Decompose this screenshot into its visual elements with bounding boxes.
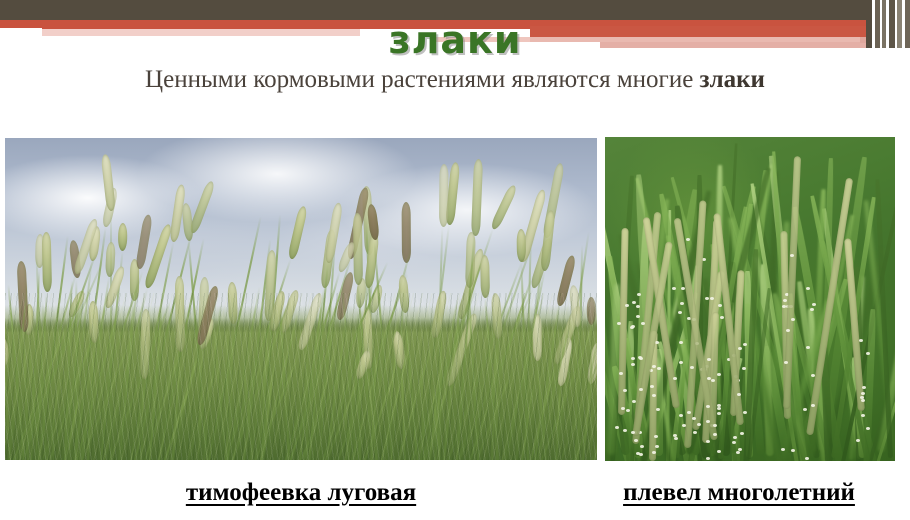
ryegrass-floret [811,404,815,407]
ryegrass-floret [784,361,788,364]
ryegrass-floret [717,450,721,453]
ryegrass-floret [706,457,710,460]
ryegrass-floret [693,431,697,434]
ryegrass-floret [713,433,717,436]
ryegrass-floret [638,356,642,359]
ryegrass-floret [791,318,795,321]
ryegrass-floret [737,393,741,396]
ryegrass-floret [743,343,747,346]
ryegrass-floret [639,388,643,391]
ryegrass-floret [866,352,870,355]
ryegrass-floret [686,238,690,241]
caption-perennial-ryegrass: плевел многолетний [568,478,910,508]
ryegrass-blades-layer [605,137,895,461]
ryegrass-floret [806,287,810,290]
ryegrass-floret [617,322,621,325]
ryegrass-floret [631,357,635,360]
timothy-spike [135,214,153,269]
ryegrass-floret [678,311,682,314]
ryegrass-floret [636,305,640,308]
ryegrass-floret [806,346,810,349]
ryegrass-floret [733,436,737,439]
ryegrass-floret [679,361,683,364]
ryegrass-floret [615,426,619,429]
ryegrass-floret [711,379,715,382]
ryegrass-floret [811,374,815,377]
subtitle-text: Ценными кормовыми растениями являются мн… [0,64,910,96]
ryegrass-floret [740,432,744,435]
timothy-spike [540,210,556,272]
ryegrass-floret [866,427,870,430]
ryegrass-floret [679,341,683,344]
timothy-spike [490,183,519,230]
ryegrass-floret [862,386,866,389]
ryegrass-floret [655,341,659,344]
ryegrass-floret [707,358,711,361]
timothy-spike [42,232,52,292]
ryegrass-floret [674,437,678,440]
ryegrass-floret [861,392,865,395]
ryegrass-floret [786,329,790,332]
ryegrass-floret [812,303,816,306]
ryegrass-floret [650,385,654,388]
ryegrass-floret [717,412,721,415]
ryegrass-floret [652,451,656,454]
ryegrass-floret [743,411,747,414]
ryegrass-floret [626,409,630,412]
ryegrass-floret [681,287,685,290]
presentation-slide: злаки Ценными кормовыми растениями являю… [0,0,910,520]
subtitle-highlight: злаки [700,66,765,93]
ryegrass-floret [791,449,795,452]
ryegrass-floret [738,347,742,350]
ryegrass-floret [713,424,717,427]
ryegrass-floret [790,254,794,257]
ryegrass-floret [639,453,643,456]
ryegrass-floret [631,431,635,434]
ryegrass-floret [632,400,636,403]
timothy-spike [101,154,116,212]
timothy-grass-field-photo [5,138,597,460]
ryegrass-floret [637,293,641,296]
timothy-spike [353,213,363,285]
ryegrass-floret [623,389,627,392]
ryegrass-floret [783,299,787,302]
ryegrass-floret [652,394,656,397]
ryegrass-floret [690,366,694,369]
ryegrass-floret [654,435,658,438]
ryegrass-floret [625,304,629,307]
ryegrass-floret [641,322,645,325]
timothy-spike [287,205,308,260]
ryegrass-floret [672,287,676,290]
ryegrass-floret [630,326,634,329]
ryegrass-floret [657,367,661,370]
timothy-spike [118,223,127,251]
subtitle-plain: Ценными кормовыми растениями являются мн… [145,66,700,93]
ryegrass-floret [706,440,710,443]
ryegrass-floret [682,424,686,427]
ryegrass-floret [631,363,635,366]
ryegrass-floret [732,441,736,444]
header-dark-bar [0,0,910,20]
timothy-spike [471,159,483,236]
ryegrass-floret [652,365,656,368]
ryegrass-floret [810,308,814,311]
ryegrass-floret [717,407,721,410]
ryegrass-floret [623,429,627,432]
ryegrass-floret [710,297,714,300]
ryegrass-floret [697,423,701,426]
ryegrass-floret [861,399,865,402]
ryegrass-floret [742,367,746,370]
ryegrass-floret [720,316,724,319]
ryegrass-floret [680,302,684,305]
ryegrass-floret [805,457,809,460]
ryegrass-floret [673,377,677,380]
ryegrass-floret [738,448,742,451]
ryegrass-floret [706,405,710,408]
ryegrass-floret [717,404,721,407]
perennial-ryegrass-photo [605,137,895,461]
ryegrass-floret [859,339,863,342]
ryegrass-floret [655,445,659,448]
ryegrass-floret [692,417,696,420]
ryegrass-floret [634,439,638,442]
ryegrass-floret [803,408,807,411]
ryegrass-floret [705,297,709,300]
ryegrass-floret [636,315,640,318]
ryegrass-floret [687,411,691,414]
ryegrass-floret [640,445,644,448]
ryegrass-floret [706,420,710,423]
grass-texture-layer [5,293,597,460]
ryegrass-floret [717,373,721,376]
timothy-spike [517,229,526,262]
ryegrass-floret [736,451,740,454]
timothy-spike [439,164,449,227]
page-title: злаки [0,18,910,62]
ryegrass-floret [632,301,636,304]
ryegrass-floret [679,414,683,417]
ryegrass-floret [856,439,860,442]
ryegrass-floret [782,305,786,308]
ryegrass-floret [718,304,722,307]
ryegrass-floret [861,414,865,417]
timothy-spike [181,203,194,241]
ryegrass-floret [656,408,660,411]
caption-timothy-grass: тимофеевка луговая [0,478,602,508]
ryegrass-floret [619,372,623,375]
ryegrass-floret [781,448,785,451]
ryegrass-floret [621,407,625,410]
